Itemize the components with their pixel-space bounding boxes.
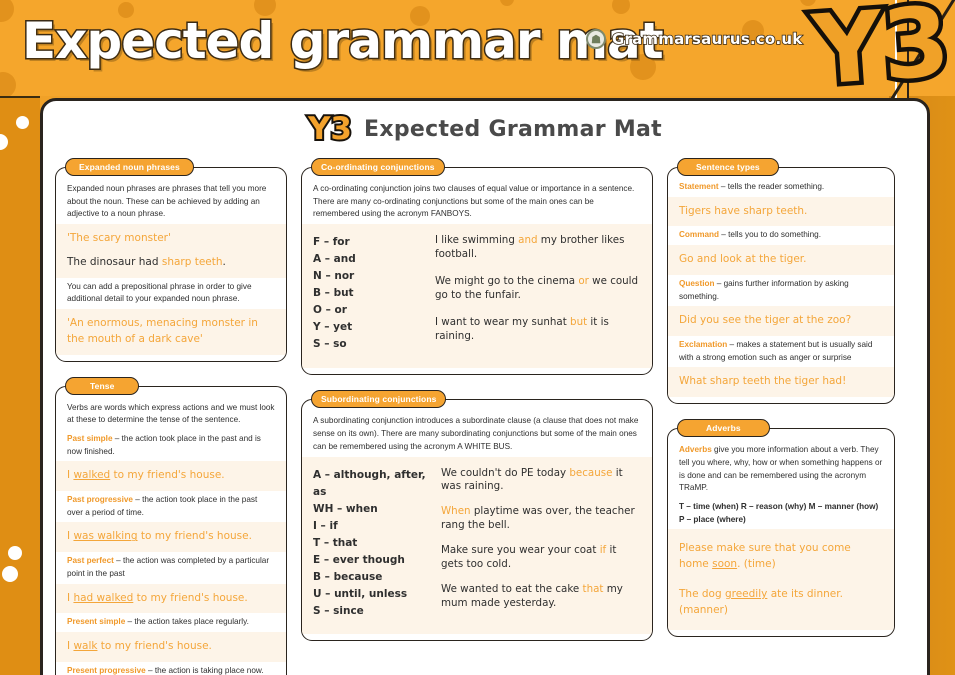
- highlight-word: sharp teeth: [162, 256, 223, 268]
- decorative-dot: [16, 116, 29, 129]
- intro-text: A subordinating conjunction introduces a…: [313, 415, 641, 453]
- example-sentence: I was walking to my friend's house.: [67, 525, 275, 549]
- intro-text: Expanded noun phrases are phrases that t…: [67, 183, 275, 221]
- definition-text: Past simple – the action took place in t…: [67, 433, 275, 458]
- intro-text: Adverbs give you more information about …: [679, 444, 883, 495]
- acronym-block: T – time (when) R – reason (why) M – man…: [668, 498, 894, 529]
- column-left: Expanded noun phrases Expanded noun phra…: [55, 157, 287, 675]
- panel-tab-label: Tense: [65, 377, 139, 395]
- column-right: Sentence types Statement – tells the rea…: [667, 157, 895, 651]
- highlight-word: that: [583, 583, 604, 595]
- definition-text: Question – gains further information by …: [679, 278, 883, 303]
- acronym-letter: A – although, after, as: [313, 467, 437, 501]
- acronym-letter: Y – yet: [313, 319, 431, 336]
- highlight-word: because: [569, 467, 612, 479]
- panel-tab-label: Adverbs: [677, 419, 770, 437]
- acronym-letter: U – until, unless: [313, 586, 437, 603]
- example-sentence: I like swimming and my brother likes foo…: [435, 234, 641, 262]
- grammar-mat-sheet: Y3 Expected Grammar Mat Expanded noun ph…: [40, 98, 930, 675]
- intro-block: Adverbs give you more information about …: [668, 441, 894, 498]
- highlight-word: When: [441, 505, 471, 517]
- example-3: 'An enormous, menacing monster in the mo…: [67, 312, 275, 352]
- definition-text: Command – tells you to do something.: [679, 229, 883, 242]
- tense-example: I was walking to my friend's house.: [56, 522, 286, 552]
- columns-layout: Expanded noun phrases Expanded noun phra…: [43, 147, 927, 675]
- acronym-letter: S – since: [313, 603, 437, 620]
- panel-body: Verbs are words which express actions an…: [55, 386, 287, 675]
- example-sentence: I walked to my friend's house.: [67, 464, 275, 488]
- panel-subordinating-conjunctions: Subordinating conjunctions A subordinati…: [301, 389, 653, 640]
- sentence-type-list: Statement – tells the reader something. …: [668, 178, 894, 397]
- intro-block: Expanded noun phrases are phrases that t…: [56, 180, 286, 224]
- example-sentence: When playtime was over, the teacher rang…: [441, 505, 641, 533]
- example-block: 'An enormous, menacing monster in the mo…: [56, 309, 286, 355]
- sheet-title-text: Expected Grammar Mat: [364, 117, 662, 142]
- acronym-letter: WH – when: [313, 501, 437, 518]
- panel-tab-label: Expanded noun phrases: [65, 158, 194, 176]
- highlight-word: or: [578, 275, 589, 287]
- intro-block: A co-ordinating conjunction joins two cl…: [302, 180, 652, 224]
- tense-definition: Past progressive – the action took place…: [56, 491, 286, 522]
- brand-text: Grammarsaurus.co.uk: [612, 30, 802, 48]
- definition-text: Present progressive – the action is taki…: [67, 665, 275, 675]
- sheet-title-badge: Y3: [308, 111, 352, 147]
- acronym-letter: F – for: [313, 234, 431, 251]
- panel-tab-label: Subordinating conjunctions: [311, 390, 446, 408]
- definition-text: Exclamation – makes a statement but is u…: [679, 339, 883, 364]
- sentence-type-definition: Exclamation – makes a statement but is u…: [668, 336, 894, 367]
- panel-sentence-types: Sentence types Statement – tells the rea…: [667, 157, 895, 404]
- sentence-type-definition: Command – tells you to do something.: [668, 226, 894, 245]
- panel-body: A co-ordinating conjunction joins two cl…: [301, 167, 653, 375]
- intro-text: A co-ordinating conjunction joins two cl…: [313, 183, 641, 221]
- acronym-examples: We couldn't do PE today because it was r…: [437, 467, 641, 622]
- conjunction-grid: F – forA – andN – norB – butO – orY – ye…: [302, 224, 652, 368]
- acronym-letter: N – nor: [313, 268, 431, 285]
- decorative-dot: [8, 546, 22, 560]
- panel-adverbs: Adverbs Adverbs give you more informatio…: [667, 418, 895, 637]
- highlight-word: if: [600, 544, 607, 556]
- column-middle: Co-ordinating conjunctions A co-ordinati…: [301, 157, 653, 655]
- example-2: The dinosaur had sharp teeth.: [67, 251, 275, 275]
- acronym-letter: T – that: [313, 535, 437, 552]
- tense-definition: Present progressive – the action is taki…: [56, 662, 286, 675]
- sentence-type-definition: Statement – tells the reader something.: [668, 178, 894, 197]
- example-sentence: I had walked to my friend's house.: [67, 587, 275, 611]
- example-sentence: We wanted to eat the cake that my mum ma…: [441, 583, 641, 611]
- decorative-dot: [2, 566, 18, 582]
- highlight-word: and: [518, 234, 537, 246]
- acronym-letters: A – although, after, asWH – whenI – ifT …: [313, 467, 437, 622]
- tense-definition: Past perfect – the action was completed …: [56, 552, 286, 583]
- tense-example: I had walked to my friend's house.: [56, 584, 286, 614]
- tense-definition: Past simple – the action took place in t…: [56, 430, 286, 461]
- definition-text: Statement – tells the reader something.: [679, 181, 883, 194]
- sentence-type-example: Go and look at the tiger.: [668, 245, 894, 275]
- example-block: Please make sure that you come home soon…: [668, 529, 894, 630]
- decorative-circle: [0, 0, 14, 22]
- sentence-type-example: What sharp teeth the tiger had!: [668, 367, 894, 397]
- adverb-example-1: Please make sure that you come home soon…: [679, 537, 883, 577]
- panel-body: A subordinating conjunction introduces a…: [301, 399, 653, 640]
- panel-body: Statement – tells the reader something. …: [667, 167, 895, 404]
- highlight-word: but: [570, 316, 587, 328]
- tense-item-list: Past simple – the action took place in t…: [56, 430, 286, 675]
- year-badge: Y3: [809, 0, 953, 107]
- panel-tab-label: Co-ordinating conjunctions: [311, 158, 445, 176]
- acronym-letter: E – ever though: [313, 552, 437, 569]
- note-text: You can add a prepositional phrase in or…: [67, 281, 275, 306]
- tense-example: I walked to my friend's house.: [56, 461, 286, 491]
- example-sentence: We couldn't do PE today because it was r…: [441, 467, 641, 495]
- panel-tab-label: Sentence types: [677, 158, 779, 176]
- example-sentence: I want to wear my sunhat but it is raini…: [435, 316, 641, 344]
- acronym-letter: O – or: [313, 302, 431, 319]
- intro-text: Verbs are words which express actions an…: [67, 402, 275, 427]
- definition-text: Past perfect – the action was completed …: [67, 555, 275, 580]
- note-block: You can add a prepositional phrase in or…: [56, 278, 286, 309]
- tense-definition: Present simple – the action takes place …: [56, 613, 286, 632]
- definition-text: Present simple – the action takes place …: [67, 616, 275, 629]
- example-sentence: Tigers have sharp teeth.: [679, 200, 883, 224]
- panel-body: Adverbs give you more information about …: [667, 428, 895, 637]
- sentence-type-definition: Question – gains further information by …: [668, 275, 894, 306]
- acronym-letter: B – but: [313, 285, 431, 302]
- example-1: 'The scary monster': [67, 227, 275, 251]
- page-title: Expected grammar mat: [22, 12, 663, 70]
- example-sentence: Make sure you wear your coat if it gets …: [441, 544, 641, 572]
- example-sentence: We might go to the cinema or we could go…: [435, 275, 641, 303]
- acronym-text: T – time (when) R – reason (why) M – man…: [679, 501, 883, 526]
- example-block: 'The scary monster' The dinosaur had sha…: [56, 224, 286, 278]
- example-sentence: I walk to my friend's house.: [67, 635, 275, 659]
- acronym-letters: F – forA – andN – norB – butO – orY – ye…: [313, 234, 431, 356]
- tense-example: I walk to my friend's house.: [56, 632, 286, 662]
- sheet-title: Y3 Expected Grammar Mat: [43, 111, 927, 147]
- decorative-circle: [500, 0, 514, 6]
- intro-block: A subordinating conjunction introduces a…: [302, 412, 652, 456]
- panel-coordinating-conjunctions: Co-ordinating conjunctions A co-ordinati…: [301, 157, 653, 375]
- dinosaur-logo-icon: ☗: [586, 29, 606, 49]
- panel-expanded-noun-phrases: Expanded noun phrases Expanded noun phra…: [55, 157, 287, 362]
- conjunction-grid: A – although, after, asWH – whenI – ifT …: [302, 457, 652, 634]
- acronym-letter: B – because: [313, 569, 437, 586]
- acronym-letter: S – so: [313, 336, 431, 353]
- acronym-examples: I like swimming and my brother likes foo…: [431, 234, 641, 356]
- left-decorative-band: [0, 96, 40, 675]
- decorative-dot: [0, 134, 8, 150]
- panel-tense: Tense Verbs are words which express acti…: [55, 376, 287, 675]
- sentence-type-example: Did you see the tiger at the zoo?: [668, 306, 894, 336]
- panel-body: Expanded noun phrases are phrases that t…: [55, 167, 287, 362]
- adverb-example-2: The dog greedily ate its dinner. (manner…: [679, 577, 883, 623]
- example-sentence: What sharp teeth the tiger had!: [679, 370, 883, 394]
- example-sentence: Go and look at the tiger.: [679, 248, 883, 272]
- decorative-circle: [0, 72, 16, 96]
- acronym-letter: A – and: [313, 251, 431, 268]
- acronym-letter: I – if: [313, 518, 437, 535]
- intro-block: Verbs are words which express actions an…: [56, 399, 286, 430]
- definition-text: Past progressive – the action took place…: [67, 494, 275, 519]
- sentence-type-example: Tigers have sharp teeth.: [668, 197, 894, 227]
- example-sentence: Did you see the tiger at the zoo?: [679, 309, 883, 333]
- brand-logo-group[interactable]: ☗ Grammarsaurus.co.uk: [586, 29, 802, 49]
